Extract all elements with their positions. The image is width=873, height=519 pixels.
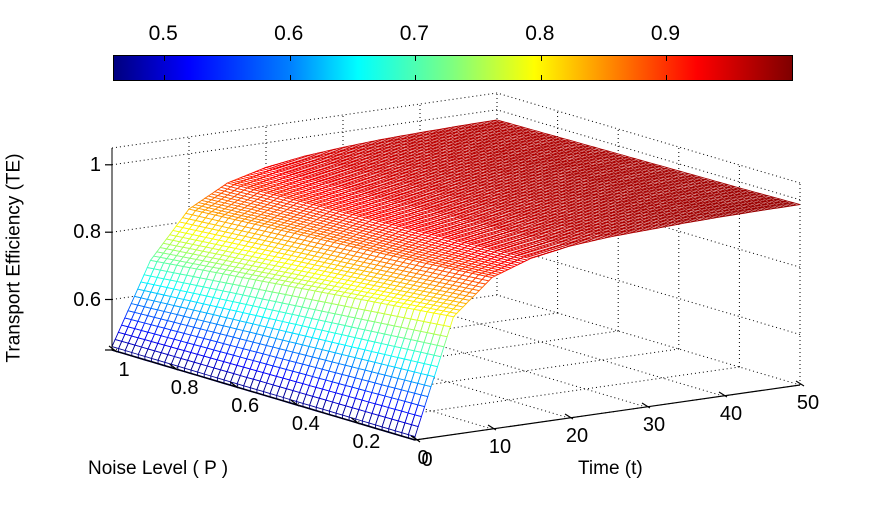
- figure-canvas: 0.50.60.70.80.9 10.80.6 10.80.60.40.20 0…: [0, 0, 873, 519]
- gridline-floor-t: [420, 306, 723, 396]
- gridline-z-right: [497, 245, 800, 335]
- surface-mesh: [112, 120, 800, 440]
- gridline-floor-t: [497, 295, 800, 385]
- surface-plot-3d: [0, 0, 873, 519]
